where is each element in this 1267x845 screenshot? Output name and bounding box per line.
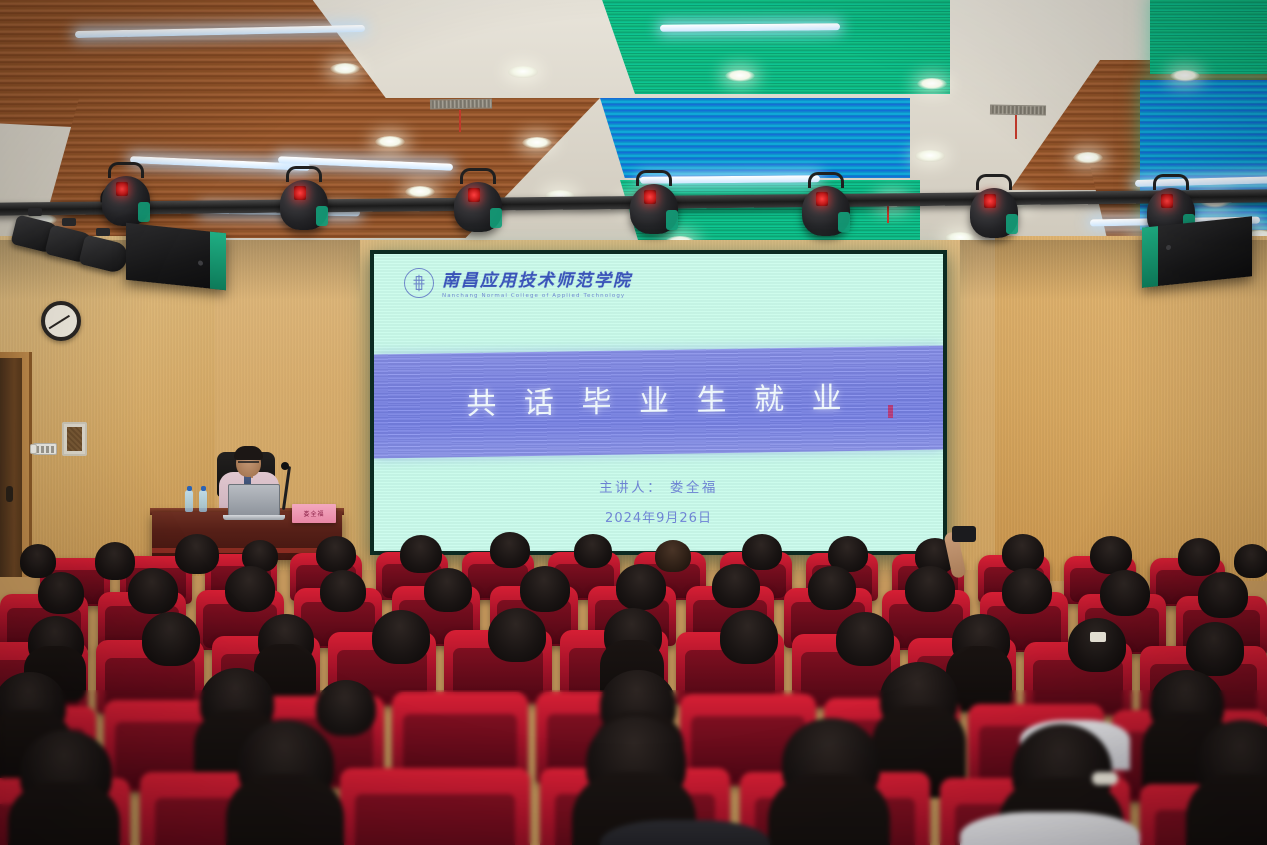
sprinkler-head bbox=[887, 205, 889, 223]
downlight bbox=[330, 63, 360, 75]
audience-hair bbox=[226, 774, 344, 845]
audience-head bbox=[488, 608, 546, 662]
audience-head bbox=[424, 568, 472, 612]
wall-clock bbox=[41, 301, 81, 341]
stage-light bbox=[968, 184, 1020, 240]
slide-institution-cn: 南昌应用技术师范学院 bbox=[442, 266, 632, 291]
downlight bbox=[917, 78, 947, 90]
audience-head bbox=[655, 540, 691, 572]
sprinkler-head bbox=[1015, 115, 1017, 139]
projection-screen: 南昌应用技术师范学院 Nanchang Normal College of Ap… bbox=[374, 254, 943, 551]
water-bottle bbox=[199, 490, 207, 512]
stage-light bbox=[278, 176, 330, 232]
audience-hair bbox=[8, 782, 120, 845]
name-placard-text: 娄全福 bbox=[303, 509, 324, 518]
slide-institution-en: Nanchang Normal College of Applied Techn… bbox=[442, 293, 632, 299]
audience-head bbox=[372, 610, 430, 664]
stage-light bbox=[628, 180, 680, 236]
presenter-glasses bbox=[238, 461, 259, 466]
microphone-head bbox=[281, 462, 289, 470]
audience-head bbox=[225, 566, 275, 612]
audience-head bbox=[836, 612, 894, 666]
auditorium-photo: 南昌应用技术师范学院 Nanchang Normal College of Ap… bbox=[0, 0, 1267, 845]
audience-head bbox=[490, 532, 530, 568]
hair-clip bbox=[1092, 772, 1118, 785]
audience-head bbox=[175, 534, 219, 574]
audience-shoulders bbox=[960, 812, 1140, 845]
stage-light bbox=[100, 172, 152, 228]
audience-head bbox=[38, 572, 84, 614]
text-cursor-mark bbox=[888, 405, 893, 418]
slide-logo: 南昌应用技术师范学院 Nanchang Normal College of Ap… bbox=[404, 266, 632, 299]
audience-head bbox=[712, 564, 760, 608]
audience-head bbox=[95, 542, 135, 580]
phone-camera bbox=[952, 526, 976, 542]
downlight bbox=[375, 136, 405, 148]
audience-head bbox=[808, 566, 856, 610]
audience-head bbox=[1234, 544, 1267, 578]
audience-area bbox=[0, 520, 1267, 845]
audience-head bbox=[400, 535, 442, 573]
audience-head bbox=[1178, 538, 1220, 576]
projection-screen-bezel: 南昌应用技术师范学院 Nanchang Normal College of Ap… bbox=[370, 250, 947, 555]
speaker-cabinet-left bbox=[126, 223, 226, 291]
audience-head bbox=[1090, 536, 1132, 574]
wall-light-bracket bbox=[28, 208, 42, 216]
air-vent bbox=[430, 98, 492, 109]
audience-head bbox=[1186, 622, 1244, 676]
university-seal-icon bbox=[404, 268, 434, 298]
presenter-hair bbox=[234, 446, 263, 460]
audience-head bbox=[1100, 570, 1150, 616]
water-bottle bbox=[185, 490, 193, 512]
ceiling-led-panel-green bbox=[1150, 0, 1267, 74]
light-switch-single[interactable] bbox=[30, 444, 37, 454]
downlight bbox=[1170, 70, 1200, 82]
speaker-cabinet-right bbox=[1142, 216, 1252, 288]
stage-light bbox=[452, 178, 504, 234]
downlight bbox=[725, 70, 755, 82]
audience-head bbox=[1068, 618, 1126, 672]
audience-head bbox=[142, 612, 200, 666]
downlight bbox=[915, 150, 945, 162]
audience-hair bbox=[768, 774, 890, 845]
wall-panel-box bbox=[62, 422, 87, 456]
downlight bbox=[522, 137, 552, 149]
audience-head bbox=[316, 536, 356, 572]
sprinkler-head bbox=[459, 110, 461, 132]
audience-head bbox=[320, 570, 366, 612]
door-handle[interactable] bbox=[6, 486, 13, 502]
hair-clip bbox=[1090, 632, 1106, 642]
wall-light-bracket bbox=[62, 218, 76, 226]
ceiling-led-panel-blue bbox=[600, 98, 910, 178]
audience-head bbox=[1002, 568, 1052, 614]
wall-light-bracket bbox=[96, 228, 110, 236]
ceiling-led-panel-green bbox=[600, 0, 950, 94]
audience-head bbox=[720, 610, 778, 664]
stage-light bbox=[800, 182, 852, 238]
audience-head bbox=[742, 534, 782, 570]
audience-head bbox=[574, 534, 612, 568]
audience-head bbox=[316, 680, 376, 736]
audience-head bbox=[1002, 534, 1044, 572]
downlight bbox=[405, 186, 435, 198]
downlight bbox=[508, 66, 538, 78]
audience-head bbox=[905, 566, 955, 612]
laptop-screen bbox=[228, 484, 280, 516]
audience-head bbox=[520, 566, 570, 612]
audience-head bbox=[1198, 572, 1248, 618]
slide-title: 共 话 毕 业 生 就 业 bbox=[374, 372, 943, 425]
downlight bbox=[1073, 152, 1103, 164]
slide-presenter: 主讲人： 娄全福 bbox=[374, 476, 943, 496]
audience-head bbox=[616, 564, 666, 610]
air-vent bbox=[990, 105, 1046, 116]
auditorium-seat bbox=[340, 768, 530, 845]
audience-head bbox=[128, 568, 178, 614]
